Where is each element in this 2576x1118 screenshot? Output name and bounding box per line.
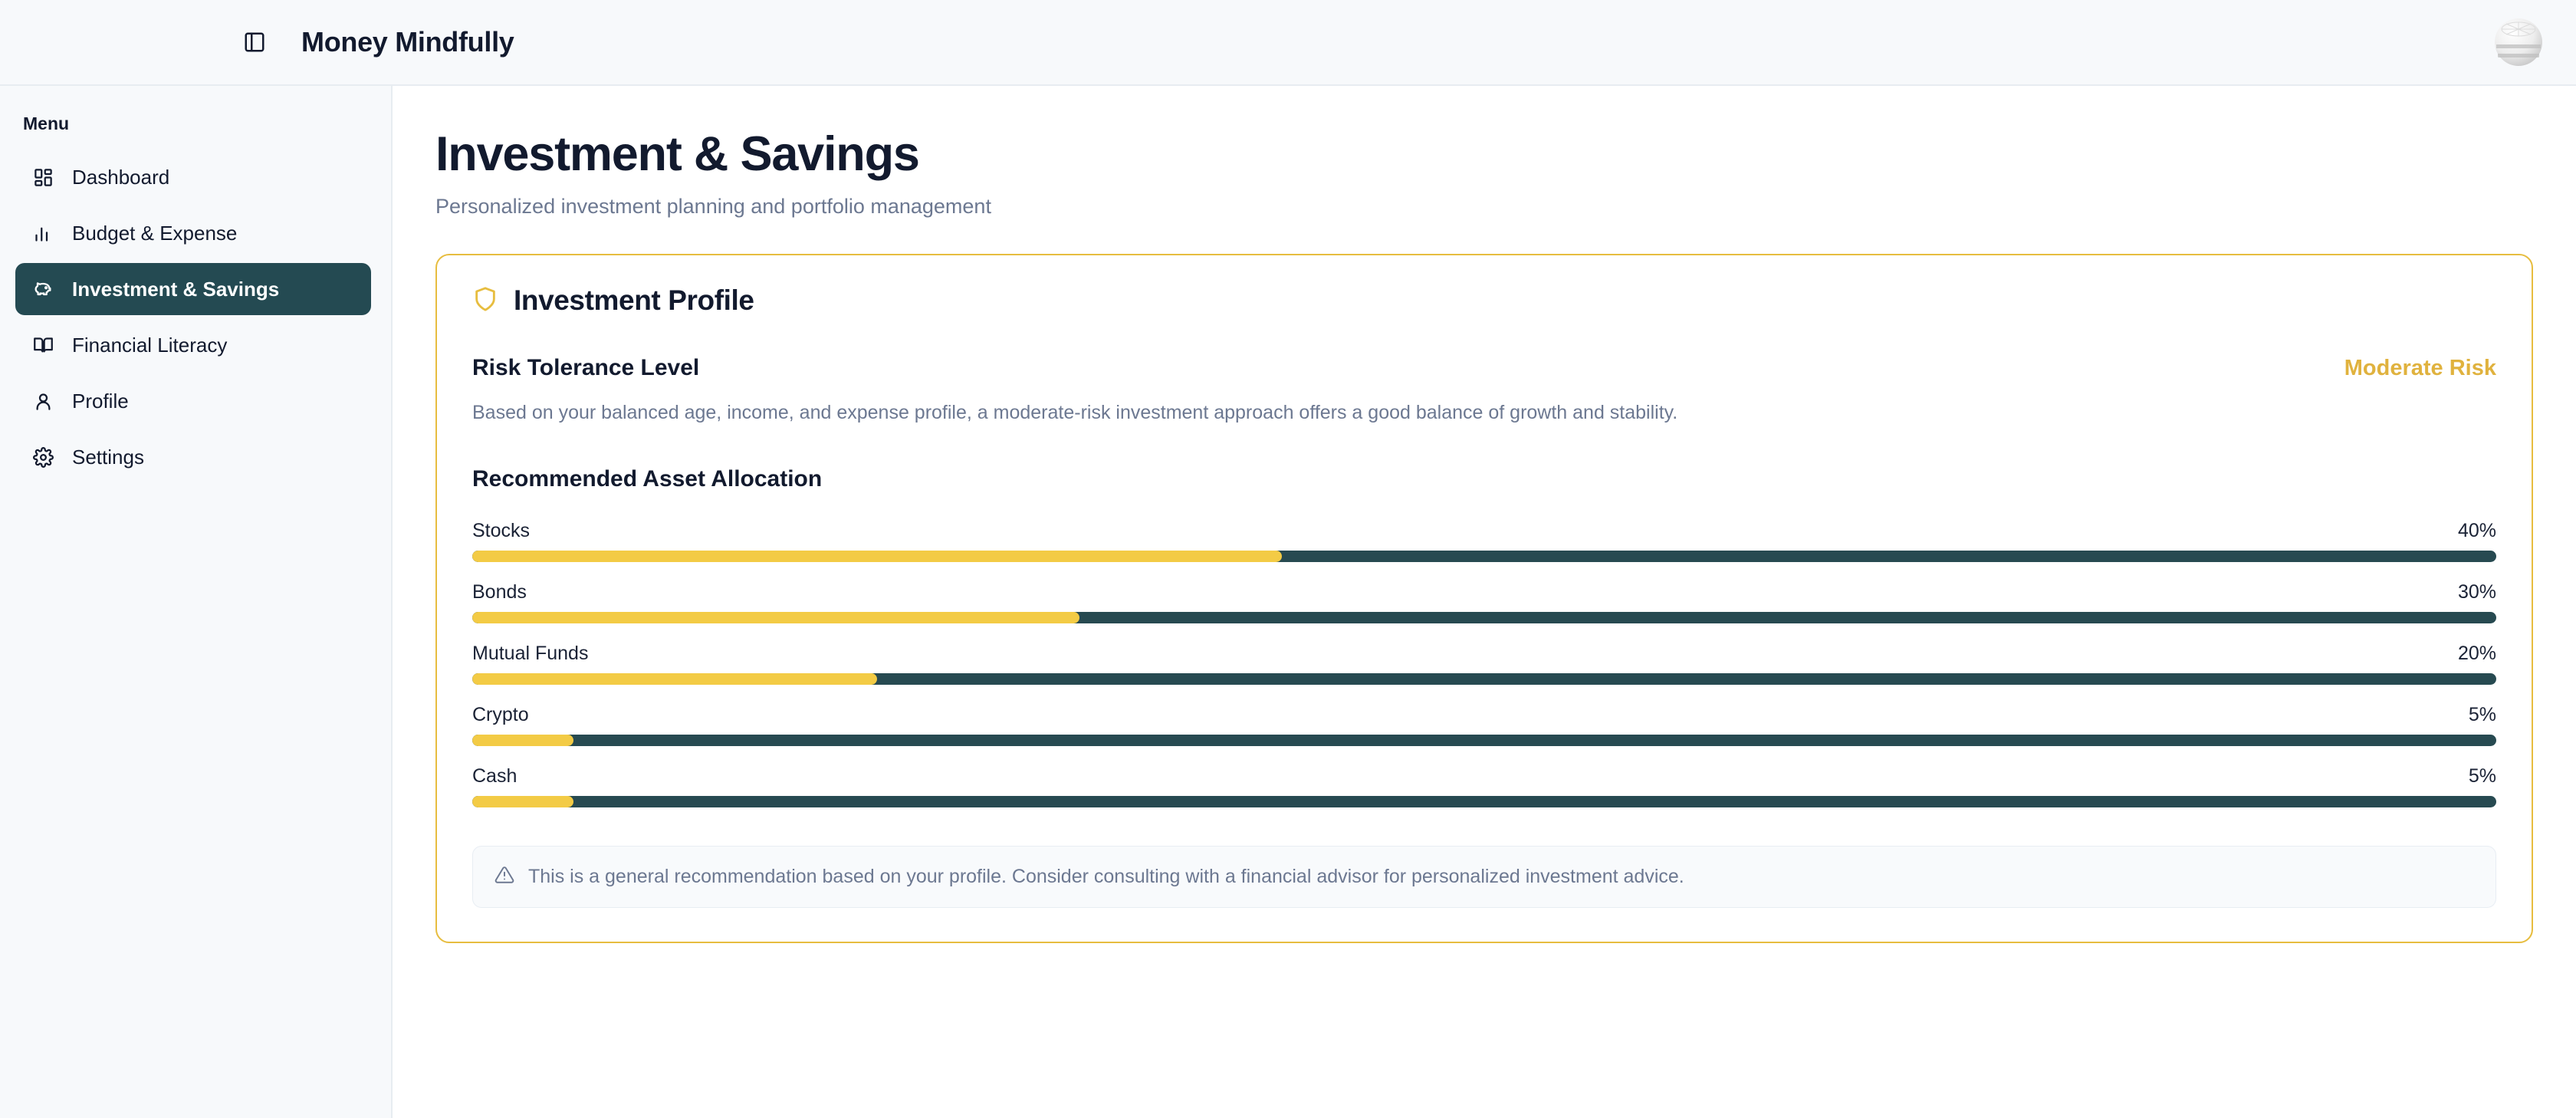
risk-tolerance-label: Risk Tolerance Level (472, 355, 699, 381)
allocation-bar-track (472, 735, 2496, 746)
status-badge: Moderate Risk (2344, 356, 2496, 381)
book-open-icon (29, 331, 57, 359)
sidebar-item-financial-literacy[interactable]: Financial Literacy (15, 319, 371, 371)
sidebar-item-settings[interactable]: Settings (15, 431, 371, 483)
allocation-bar-track (472, 612, 2496, 623)
warning-triangle-icon (495, 865, 514, 889)
sidebar-section-label: Menu (23, 113, 391, 134)
sidebar-item-investment-savings[interactable]: Investment & Savings (15, 263, 371, 315)
sidebar-item-budget-expense[interactable]: Budget & Expense (15, 207, 371, 259)
allocation-label: Stocks (472, 520, 530, 542)
allocation-value: 20% (2458, 643, 2496, 665)
sidebar-item-dashboard[interactable]: Dashboard (15, 151, 371, 203)
shield-icon (472, 286, 498, 316)
allocation-value: 5% (2469, 765, 2496, 788)
sidebar: Menu Dashboard Budget & Expense Investme… (0, 86, 393, 1118)
layout-grid-icon (29, 163, 57, 191)
allocation-bar-fill (472, 551, 1282, 562)
top-header-bar: Money Mindfully (0, 0, 2576, 86)
page-title: Investment & Savings (435, 129, 2533, 179)
gear-icon (29, 443, 57, 471)
page-subtitle: Personalized investment planning and por… (435, 195, 2533, 219)
avatar[interactable] (2493, 17, 2544, 67)
asset-allocation-list: Stocks 40% Bonds 30% Mutual Funds (472, 520, 2496, 807)
piggy-bank-icon (29, 275, 57, 303)
allocation-bar-track (472, 796, 2496, 807)
allocation-row: Cash 5% (472, 765, 2496, 807)
allocation-row: Bonds 30% (472, 581, 2496, 623)
allocation-bar-track (472, 551, 2496, 562)
allocation-bar-fill (472, 673, 877, 685)
bar-chart-icon (29, 219, 57, 247)
allocation-bar-fill (472, 612, 1079, 623)
allocation-row: Stocks 40% (472, 520, 2496, 562)
sidebar-item-label: Investment & Savings (72, 278, 279, 301)
app-title: Money Mindfully (301, 26, 514, 58)
allocation-bar-fill (472, 796, 573, 807)
card-title: Investment Profile (514, 284, 754, 317)
panel-left-icon[interactable] (239, 27, 270, 58)
allocation-heading: Recommended Asset Allocation (472, 466, 2496, 492)
allocation-value: 40% (2458, 520, 2496, 542)
allocation-row: Mutual Funds 20% (472, 643, 2496, 685)
allocation-bar-fill (472, 735, 573, 746)
sidebar-item-label: Dashboard (72, 166, 169, 189)
sidebar-item-profile[interactable]: Profile (15, 375, 371, 427)
user-icon (29, 387, 57, 415)
allocation-bar-track (472, 673, 2496, 685)
disclaimer-text: This is a general recommendation based o… (528, 866, 1684, 888)
allocation-label: Mutual Funds (472, 643, 588, 665)
sidebar-item-label: Financial Literacy (72, 334, 227, 357)
allocation-value: 30% (2458, 581, 2496, 603)
sidebar-item-label: Budget & Expense (72, 222, 237, 245)
disclaimer-note: This is a general recommendation based o… (472, 846, 2496, 908)
card-header: Investment Profile (472, 284, 2496, 317)
allocation-label: Crypto (472, 704, 529, 726)
sidebar-item-label: Profile (72, 390, 129, 413)
sidebar-item-label: Settings (72, 446, 144, 469)
investment-profile-card: Investment Profile Risk Tolerance Level … (435, 254, 2533, 943)
allocation-value: 5% (2469, 704, 2496, 726)
allocation-label: Cash (472, 765, 517, 788)
main-content: Investment & Savings Personalized invest… (393, 86, 2576, 1118)
risk-description: Based on your balanced age, income, and … (472, 400, 2496, 426)
allocation-label: Bonds (472, 581, 527, 603)
allocation-row: Crypto 5% (472, 704, 2496, 746)
risk-tolerance-row: Risk Tolerance Level Moderate Risk (472, 355, 2496, 381)
